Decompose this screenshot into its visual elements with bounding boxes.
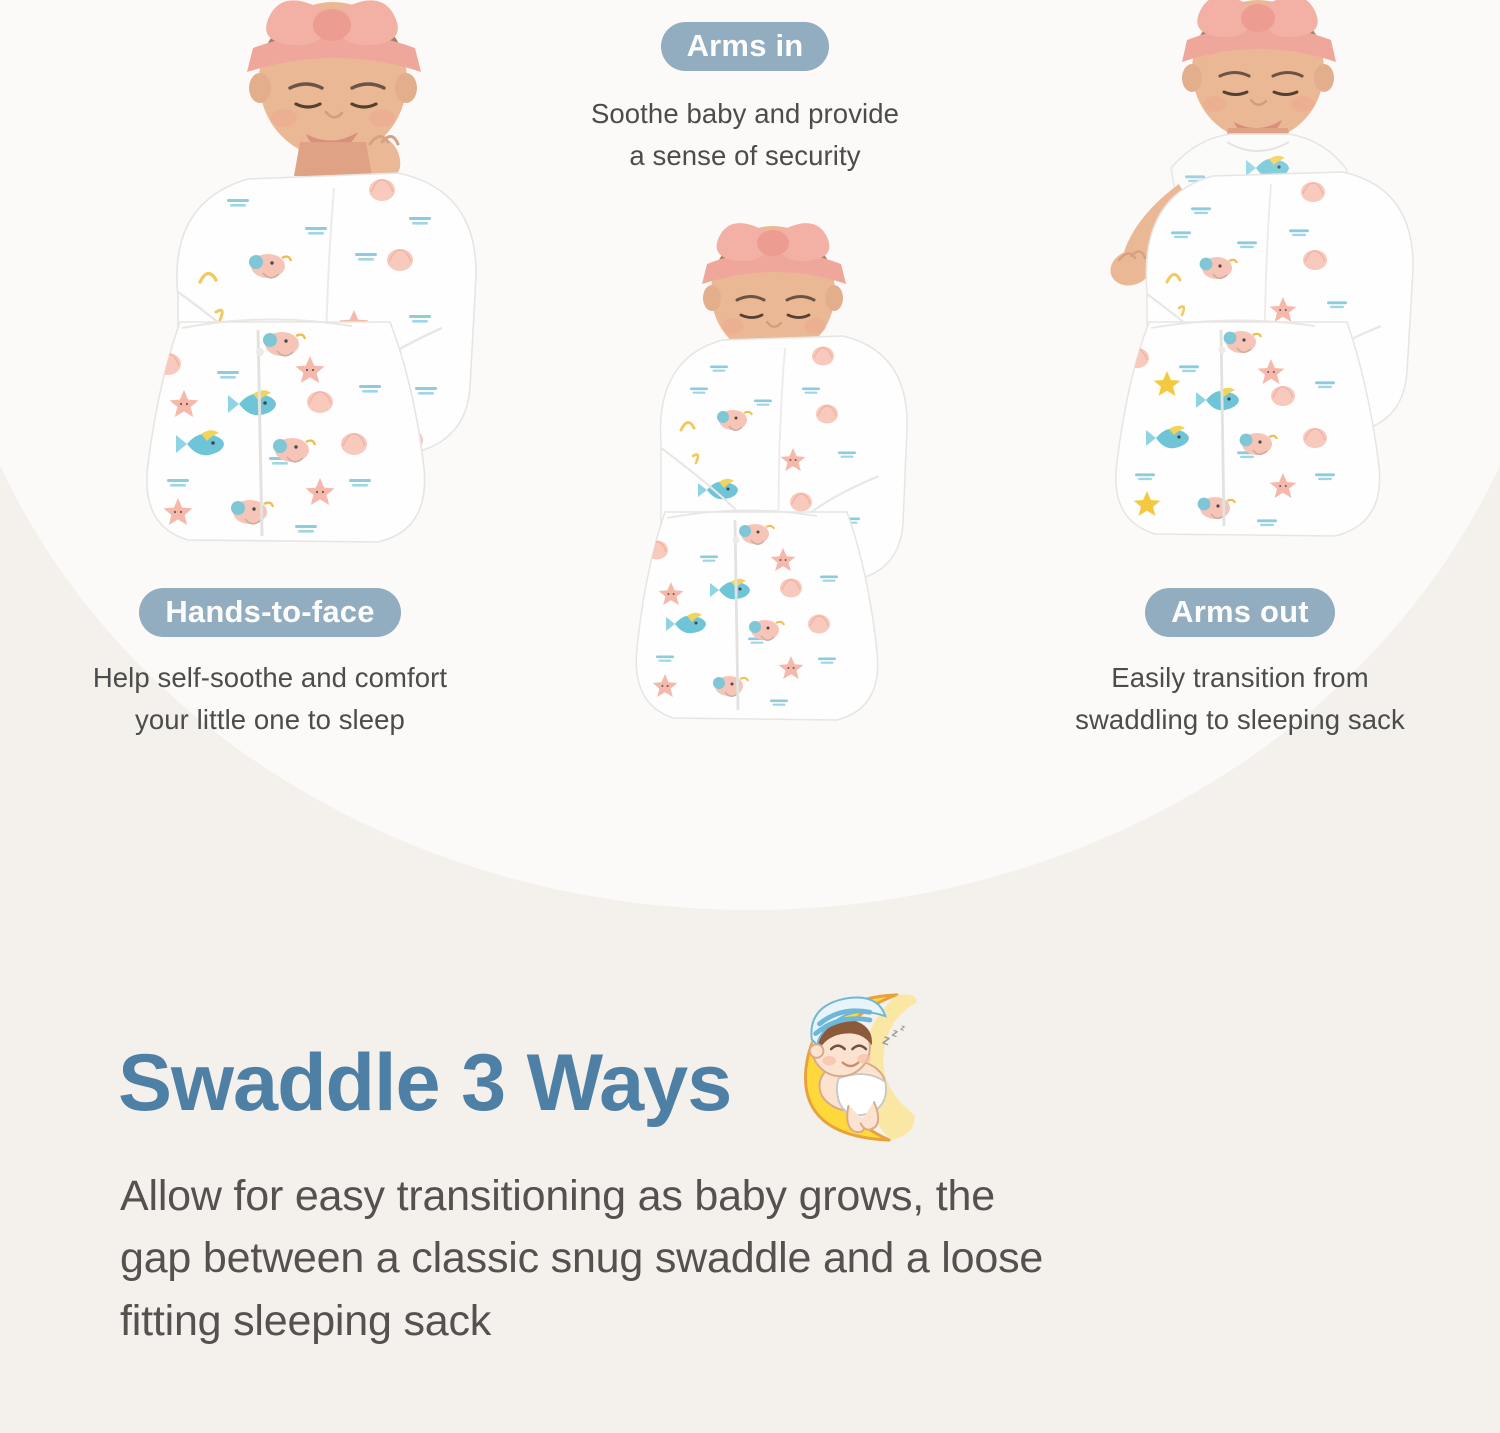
promo-body-text: Allow for easy transitioning as baby gro… (120, 1165, 1410, 1352)
feature-arms-out: Arms out Easily transition from swaddlin… (1000, 588, 1480, 741)
promo-section: Swaddle 3 Ways (0, 915, 1500, 1433)
features-section: Arms in Soothe baby and provide a sense … (0, 0, 1500, 915)
promo-headline: Swaddle 3 Ways (118, 1043, 731, 1124)
photo-hands-to-face (120, 0, 540, 552)
promo-headline-row: Swaddle 3 Ways (118, 1023, 928, 1144)
feature-hands-to-face: Hands-to-face Help self-soothe and comfo… (30, 588, 510, 741)
svg-text:z: z (900, 1022, 908, 1033)
feature-arms-in: Arms in Soothe baby and provide a sense … (455, 22, 1035, 177)
feature-caption-arms-in: Soothe baby and provide a sense of secur… (455, 93, 1035, 177)
sleeping-baby-on-moon-icon: z z z (773, 989, 928, 1144)
feature-label-hands-to-face: Hands-to-face (139, 588, 400, 637)
photo-arms-out (1075, 0, 1435, 552)
feature-caption-hands-to-face: Help self-soothe and comfort your little… (30, 657, 510, 741)
svg-text:z: z (891, 1026, 901, 1040)
feature-label-arms-out: Arms out (1145, 588, 1335, 637)
feature-caption-arms-out: Easily transition from swaddling to slee… (1000, 657, 1480, 741)
photo-arms-in (615, 212, 930, 767)
feature-label-arms-in: Arms in (661, 22, 830, 71)
